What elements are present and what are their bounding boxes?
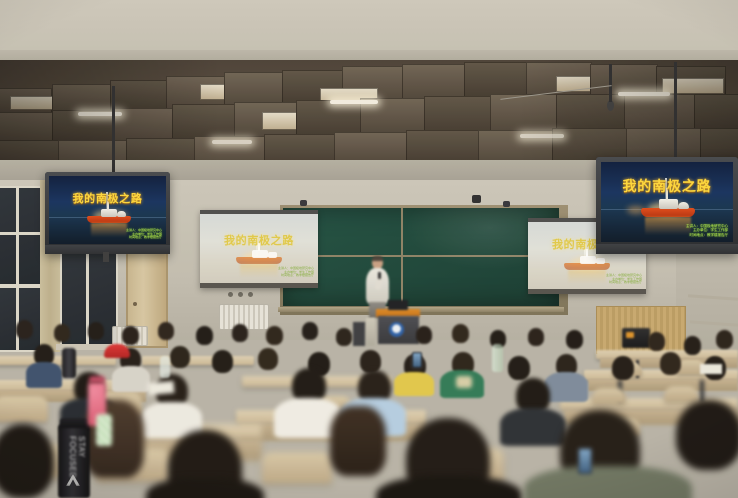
wall-switch[interactable] [238, 292, 243, 297]
laptop[interactable] [388, 300, 408, 310]
audience-head [302, 322, 318, 340]
audience-head [648, 332, 665, 351]
audience-torso [500, 408, 566, 446]
audience-head [122, 326, 139, 345]
wall-switch[interactable] [228, 292, 233, 297]
bottle-cap[interactable] [89, 376, 105, 383]
audience-head [158, 322, 174, 340]
audience-torso [544, 372, 588, 402]
slide-credits: 主讲人：中国极地研究中心 主办单位：学生工作部 时间地点：教学楼报告厅 [126, 229, 162, 240]
audience-torso [26, 362, 62, 388]
paper-sheet [700, 364, 722, 374]
monitor-left-bracket [103, 252, 109, 262]
icebreaker-superstructure [659, 199, 678, 209]
desk-row [0, 356, 116, 365]
audience-torso [394, 372, 434, 396]
lectern-side-panel [353, 322, 365, 346]
ceiling-camera [472, 195, 481, 203]
wall-switch[interactable] [248, 292, 253, 297]
ceiling-camera [503, 201, 510, 207]
credit-line: 时间地点：教学楼报告厅 [278, 274, 314, 278]
monitor-left[interactable]: 我的南极之路 主讲人：中国极地研究中心 主办单位：学生工作部 时间地点：教学楼报… [45, 172, 170, 254]
window [0, 286, 44, 352]
audience-head [416, 326, 432, 344]
ceiling-light [520, 134, 564, 138]
slide-title: 我的南极之路 [49, 190, 166, 206]
ceiling-light [618, 92, 670, 96]
chalkboard [283, 208, 559, 306]
slide-content: 我的南极之路 主讲人：中国极地研究中心 主办单位：学生工作部 时间地点：教学楼报… [601, 162, 733, 242]
icebreaker-hull [236, 257, 282, 264]
lectern-stand [366, 318, 375, 346]
ceiling-light [212, 140, 252, 144]
icebreaker-hull [87, 216, 131, 223]
audience-head [612, 356, 634, 380]
audience-head [212, 350, 233, 373]
microphone[interactable] [378, 272, 381, 279]
seat [592, 388, 626, 404]
monitor-left-screen: 我的南极之路 主讲人：中国极地研究中心 主办单位：学生工作部 时间地点：教学楼报… [49, 176, 166, 244]
audience-head [196, 326, 213, 345]
slide-credits: 主讲人：中国极地研究中心 主办单位：学生工作部 时间地点：教学楼报告厅 [686, 224, 728, 237]
slide-content: 我的南极之路 主讲人：中国极地研究中心 主办单位：学生工作部 时间地点：教学楼报… [200, 214, 318, 283]
ceiling-light [78, 112, 122, 116]
slide-content: 我的南极之路 主讲人：中国极地研究中心 主办单位：学生工作部 时间地点：教学楼报… [49, 176, 166, 244]
slide-title: 我的南极之路 [200, 232, 318, 248]
window [0, 186, 44, 286]
icebreaker-superstructure [101, 209, 117, 217]
ceiling-light [330, 100, 378, 104]
audience-torso-foreground [146, 478, 264, 498]
screen-left: 我的南极之路 主讲人：中国极地研究中心 主办单位：学生工作部 时间地点：教学楼报… [200, 210, 318, 288]
icebreaker-superstructure [252, 250, 268, 258]
audience-head [16, 320, 33, 339]
seat [664, 386, 698, 402]
av-equipment-light [626, 332, 634, 338]
credit-line: 主办单位：学生工作部 [686, 228, 728, 232]
audience-head [170, 346, 190, 368]
monitor-mount-rod [112, 86, 115, 180]
water-bottle-green[interactable] [96, 414, 112, 446]
audience-head [684, 336, 701, 355]
monitor-right[interactable]: 我的南极之路 主讲人：中国极地研究中心 主办单位：学生工作部 时间地点：教学楼报… [596, 157, 738, 254]
ceiling-upper-plane [0, 0, 738, 56]
desk-row [142, 356, 254, 365]
monitor-right-screen: 我的南极之路 主讲人：中国极地研究中心 主办单位：学生工作部 时间地点：教学楼报… [601, 162, 733, 242]
monitor-mount-rod [609, 64, 612, 102]
audience-hair-foreground [330, 406, 386, 476]
coffered-ceiling [0, 60, 738, 168]
audience-head [54, 324, 70, 342]
audience-head [528, 328, 544, 346]
audience-head [232, 324, 248, 342]
audience-head [452, 324, 469, 343]
slide-title: 我的南极之路 [601, 176, 733, 196]
red-cap [104, 344, 130, 358]
av-equipment [622, 328, 650, 348]
audience-head [566, 330, 583, 349]
credit-line: 时间地点：教学楼报告厅 [686, 233, 728, 237]
credit-line: 时间地点：教学楼报告厅 [126, 236, 162, 240]
icebreaker-hull [564, 263, 610, 270]
bottle-cap[interactable] [60, 418, 88, 428]
audience-head-foreground [676, 400, 738, 470]
ceiling-camera [300, 200, 307, 206]
smartphone[interactable] [578, 448, 592, 474]
chalk-tray [278, 307, 564, 312]
presenter-hair [372, 256, 383, 261]
lecture-hall-photo: 我的南极之路 主讲人：中国极地研究中心 主办单位：学生工作部 时间地点：教学楼报… [0, 0, 738, 498]
audience-head [258, 348, 278, 370]
audience-head [716, 330, 733, 349]
water-bottle-clear[interactable] [492, 344, 503, 372]
seat [262, 452, 332, 484]
icebreaker-hull [641, 208, 695, 217]
thermos[interactable] [62, 348, 76, 378]
slide-credits: 主讲人：中国极地研究中心 主办单位：学生工作部 时间地点：教学楼报告厅 [606, 274, 642, 285]
water-bottle-clear[interactable] [160, 356, 170, 378]
audience-head [508, 356, 530, 380]
icebreaker-superstructure [580, 256, 596, 264]
audience-head [88, 322, 104, 340]
credit-line: 时间地点：教学楼报告厅 [606, 281, 642, 285]
screen-left-surface: 我的南极之路 主讲人：中国极地研究中心 主办单位：学生工作部 时间地点：教学楼报… [200, 214, 318, 283]
audience-head [336, 328, 352, 346]
shirt-graphic [456, 376, 472, 388]
paper-sheet [148, 381, 175, 395]
lectern-emblem [389, 322, 404, 337]
audience-head [266, 326, 283, 345]
audience-head [660, 352, 681, 375]
audience-head-foreground [0, 424, 54, 498]
desk-leg [700, 380, 704, 402]
monitor-mount-rod [674, 62, 677, 166]
audience-torso [112, 366, 150, 392]
slide-credits: 主讲人：中国极地研究中心 主办单位：学生工作部 时间地点：教学楼报告厅 [278, 267, 314, 278]
seat [0, 396, 48, 422]
audience-torso-foreground [524, 466, 692, 498]
smartphone[interactable] [412, 352, 422, 368]
